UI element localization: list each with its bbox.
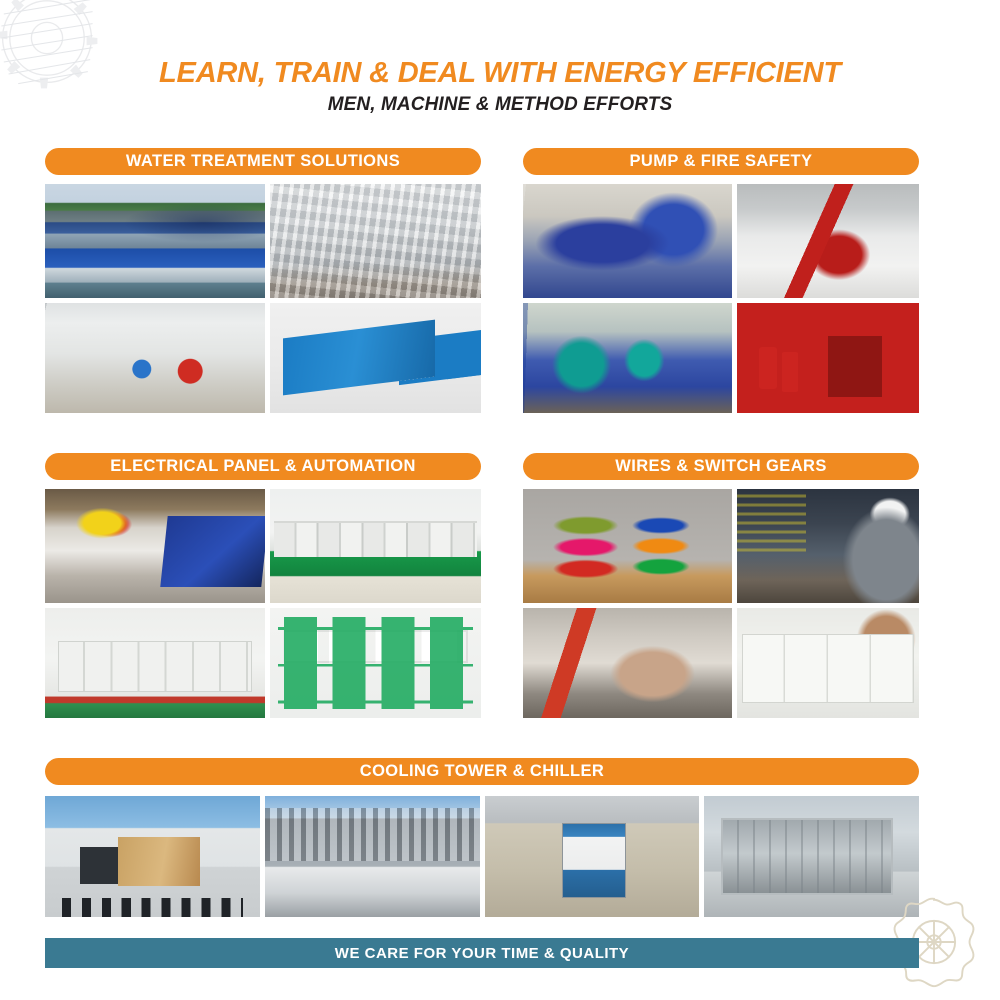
section-title-water-treatment[interactable]: WATER TREATMENT SOLUTIONS xyxy=(45,148,481,175)
multifunction-meters-photo xyxy=(270,608,481,718)
section-water-treatment: WATER TREATMENT SOLUTIONS xyxy=(45,148,481,413)
section-title-wires-switch-gears[interactable]: WIRES & SWITCH GEARS xyxy=(523,453,919,480)
image-grid-cooling-tower-chiller xyxy=(45,796,919,917)
header: LEARN, TRAIN & DEAL WITH ENERGY EFFICIEN… xyxy=(0,58,1000,116)
section-wires-switch-gears: WIRES & SWITCH GEARS xyxy=(523,453,919,718)
modular-switch-plates-photo xyxy=(737,608,919,718)
section-pump-fire-safety: PUMP & FIRE SAFETY xyxy=(523,148,919,413)
green-circulation-pumps-photo xyxy=(523,303,732,413)
hmi-touchscreen-operator-photo xyxy=(45,489,265,603)
section-title-cooling-tower-chiller[interactable]: COOLING TOWER & CHILLER xyxy=(45,758,919,785)
chiller-skid-photo xyxy=(704,796,919,917)
switchgear-room-photo xyxy=(270,489,481,603)
section-electrical-panel-automation: ELECTRICAL PANEL & AUTOMATION xyxy=(45,453,481,718)
footer-tagline-bar: WE CARE FOR YOUR TIME & QUALITY xyxy=(45,938,919,968)
brochure-page: LEARN, TRAIN & DEAL WITH ENERGY EFFICIEN… xyxy=(0,0,1000,1000)
footer-tagline-text: WE CARE FOR YOUR TIME & QUALITY xyxy=(335,945,629,962)
section-title-electrical-panel-automation[interactable]: ELECTRICAL PANEL & AUTOMATION xyxy=(45,453,481,480)
image-grid-pump-fire-safety xyxy=(523,184,919,413)
packaged-air-chiller-photo xyxy=(485,796,700,917)
panel-board-lineup-photo xyxy=(45,608,265,718)
mcb-installation-hands-photo xyxy=(523,608,732,718)
section-cooling-tower-chiller: COOLING TOWER & CHILLER xyxy=(45,758,919,917)
red-sprinkler-riser-photo xyxy=(737,184,919,298)
water-softener-plant-photo xyxy=(45,303,265,413)
cable-spools-photo xyxy=(523,489,732,603)
image-grid-electrical-panel-automation xyxy=(45,489,481,718)
fiberglass-cooling-tower-photo xyxy=(45,796,260,917)
stainless-process-piping-photo xyxy=(270,184,481,298)
page-subheadline: MEN, MACHINE & METHOD EFFORTS xyxy=(0,94,1000,116)
image-grid-water-treatment xyxy=(45,184,481,413)
section-title-pump-fire-safety[interactable]: PUMP & FIRE SAFETY xyxy=(523,148,919,175)
blue-pump-valve-manifold-photo xyxy=(523,184,732,298)
page-headline: LEARN, TRAIN & DEAL WITH ENERGY EFFICIEN… xyxy=(0,58,1000,88)
technician-testing-panel-photo xyxy=(737,489,919,603)
image-grid-wires-switch-gears xyxy=(523,489,919,718)
fire-extinguishers-hose-cabinet-photo xyxy=(737,303,919,413)
packaged-wtp-unit-photo xyxy=(270,303,481,413)
clarifier-tank-photo xyxy=(45,184,265,298)
cooling-tower-array-photo xyxy=(265,796,480,917)
